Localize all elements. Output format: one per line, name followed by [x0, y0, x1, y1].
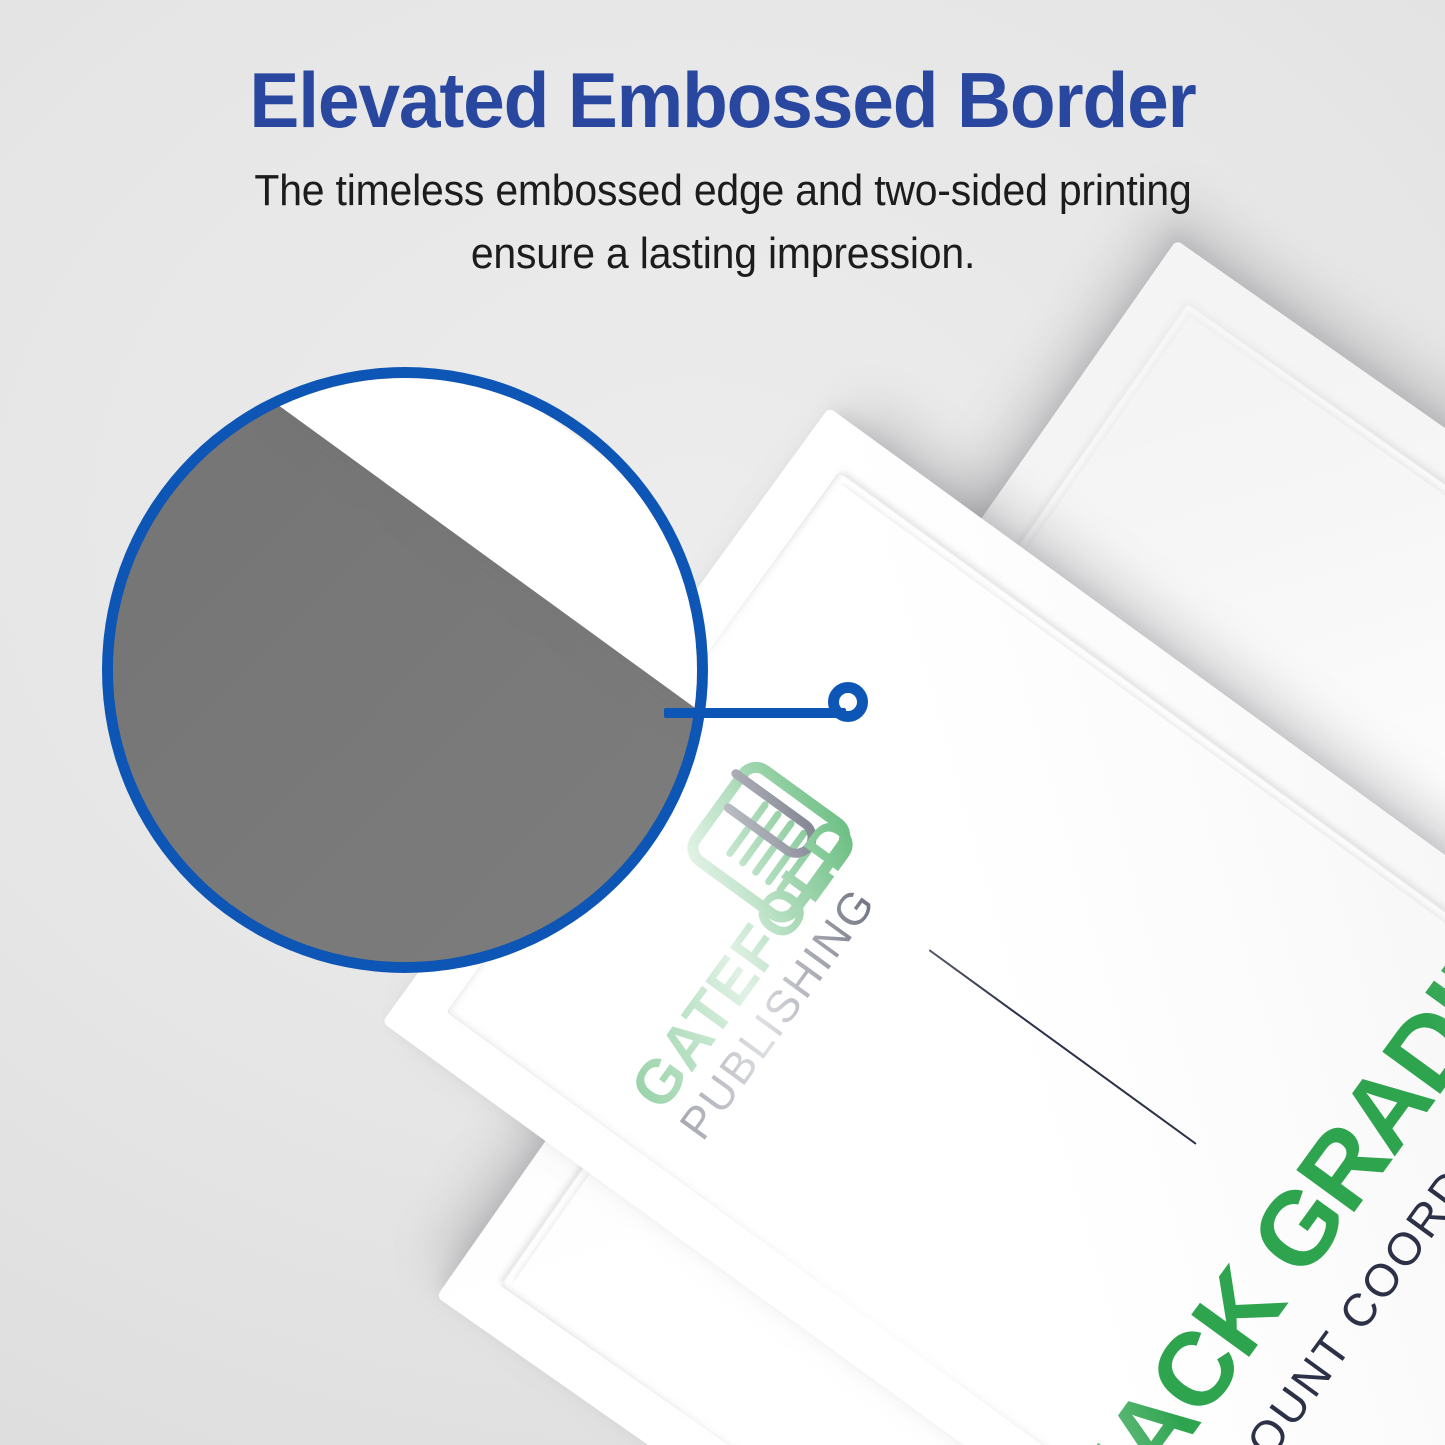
product-feature-image: JACK GRADIN COORDINATOR [0, 0, 1445, 1445]
magnified-letters: NI [593, 378, 697, 581]
headline-block: Elevated Embossed Border The timeless em… [0, 58, 1445, 285]
page-title: Elevated Embossed Border [29, 58, 1416, 142]
card-front-name: JACK GRADIN [1050, 904, 1445, 1445]
page-subtitle: The timeless embossed edge and two-sided… [197, 160, 1248, 285]
card-divider-line [929, 949, 1197, 1145]
document-paperclip-icon: GATEFOLD PUBLISHING [668, 732, 878, 942]
